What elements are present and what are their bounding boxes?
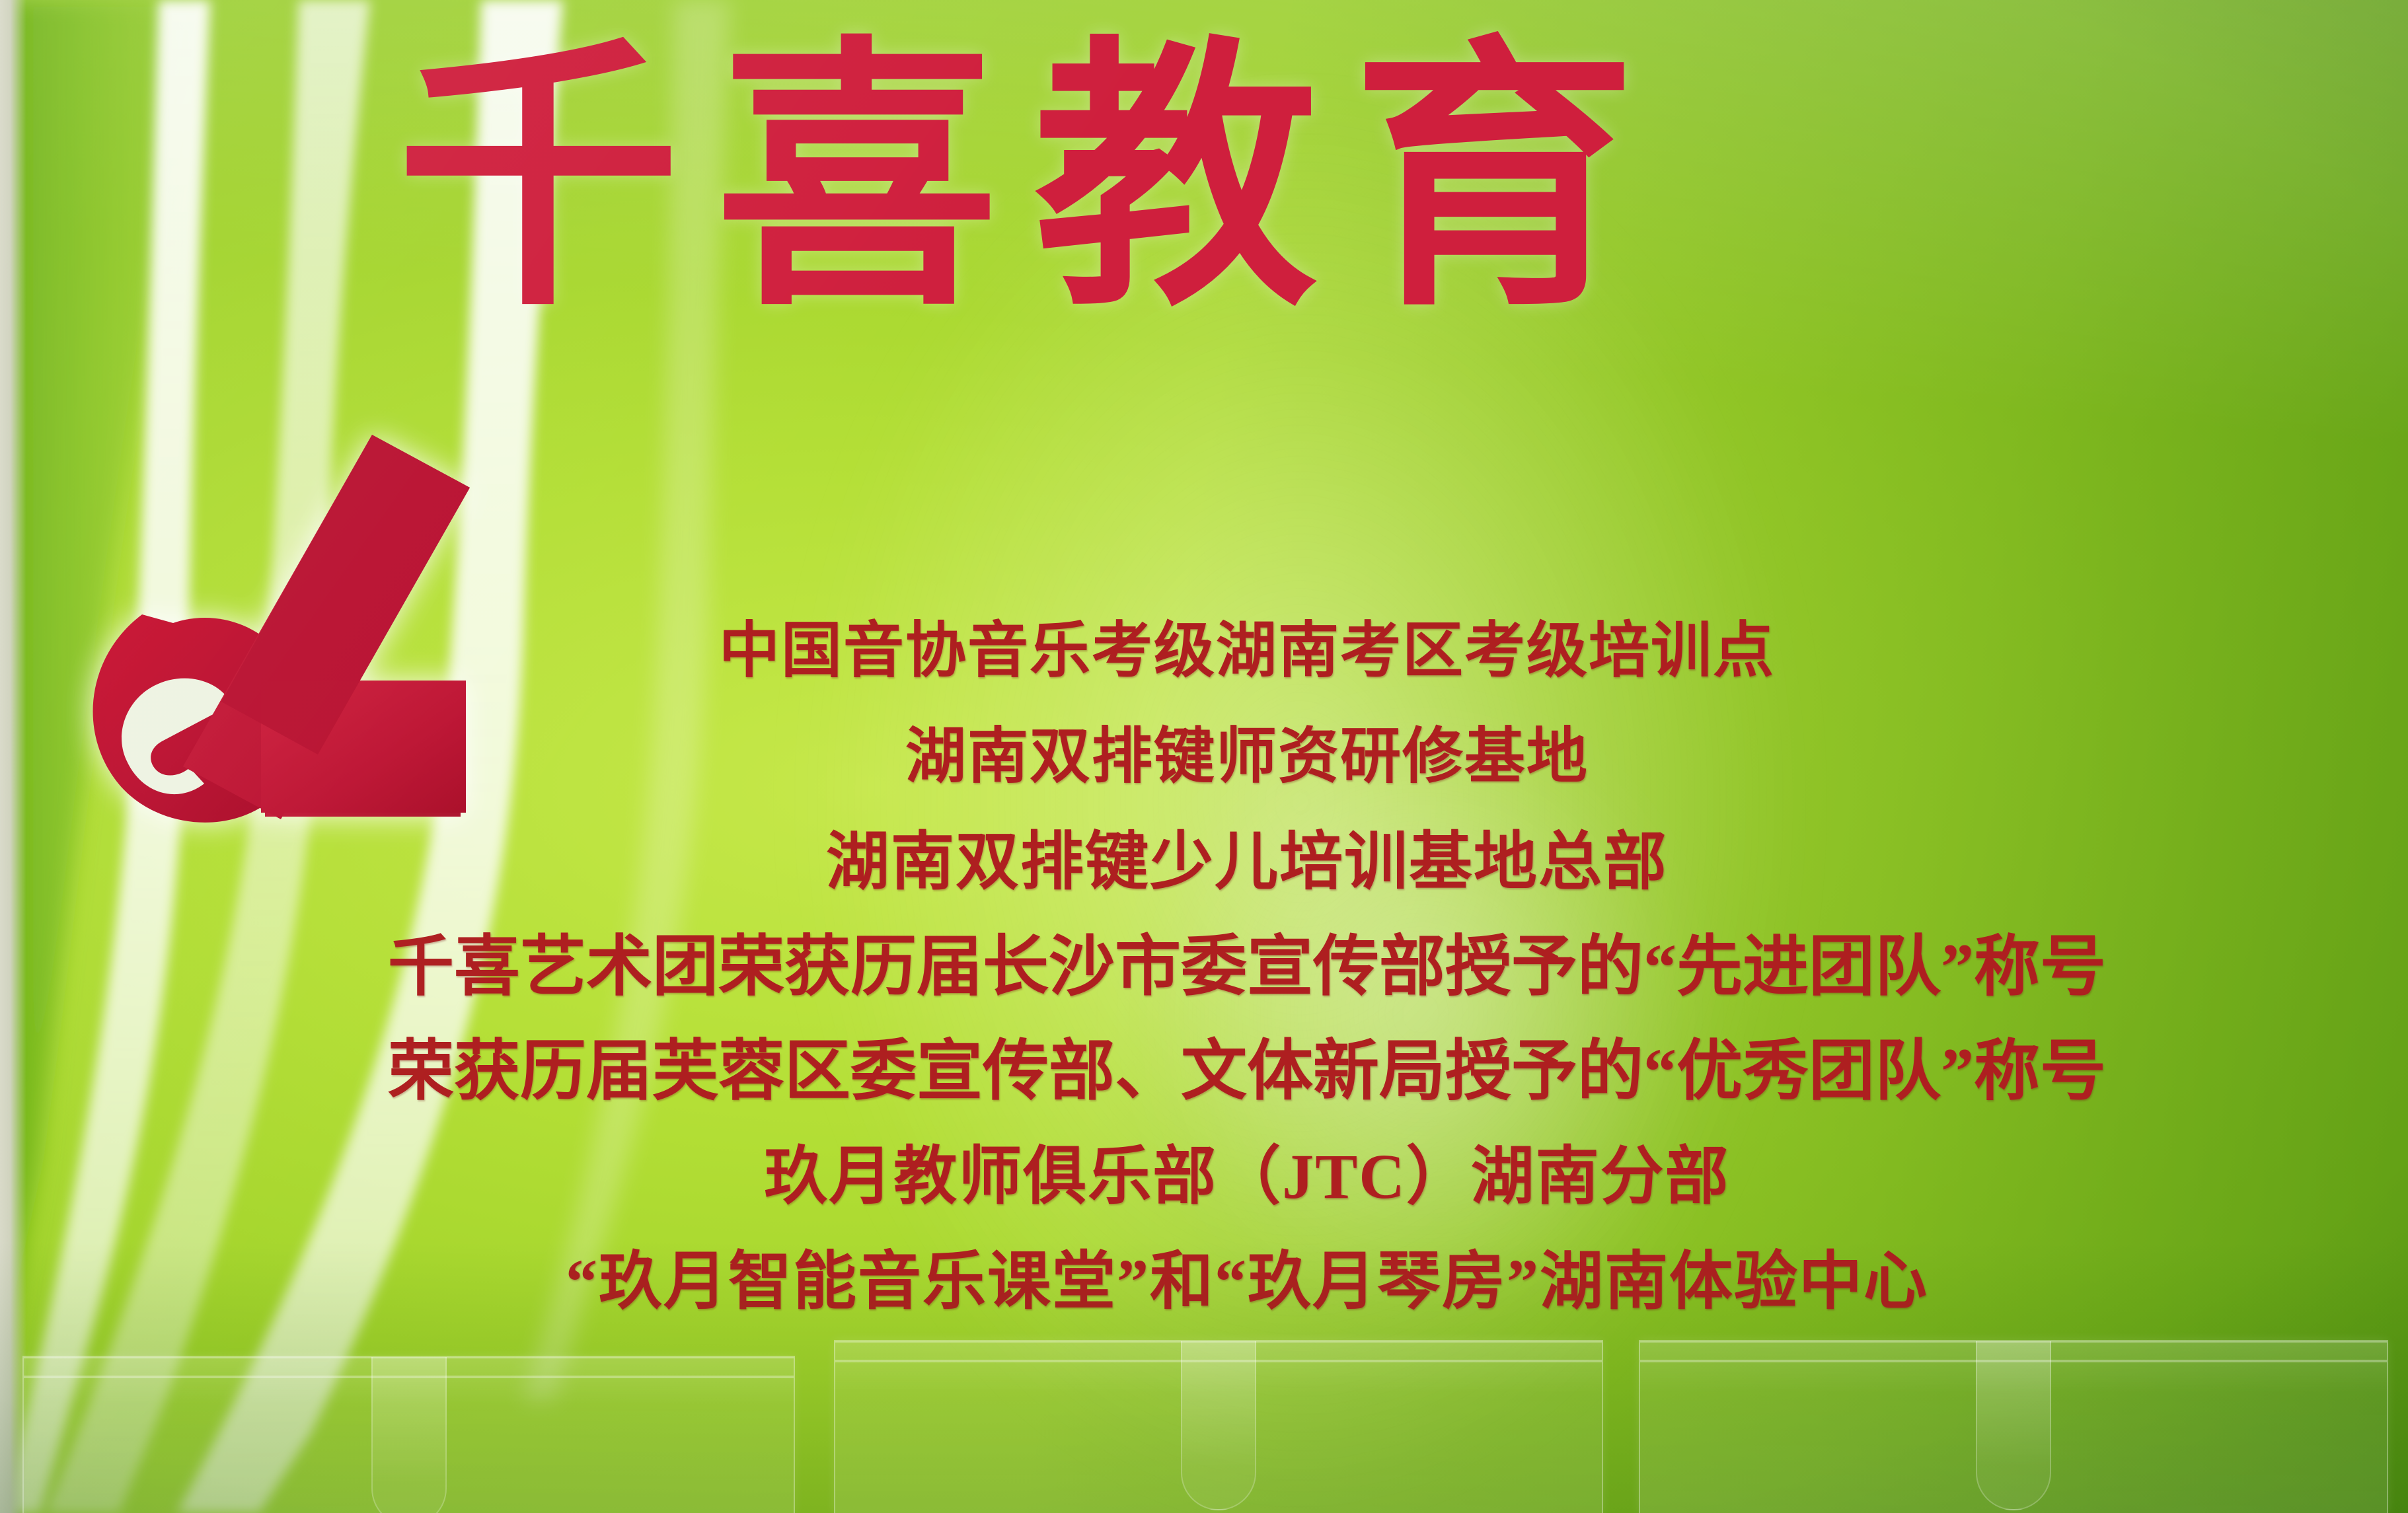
holder-notch [371, 1356, 447, 1513]
brochure-holder-right[interactable] [1639, 1340, 2388, 1513]
brochure-holder-left[interactable] [22, 1356, 795, 1513]
signage-photo: 千喜教育 中国音协音乐考级湖南考区考级培训点 湖南双排键师资研修基地 湖南双排键… [0, 0, 2408, 1513]
brochure-holder-center[interactable] [834, 1340, 1603, 1513]
brochure-holder-row [0, 1335, 2408, 1513]
holder-notch [1976, 1340, 2051, 1510]
holder-notch [1181, 1340, 1256, 1510]
